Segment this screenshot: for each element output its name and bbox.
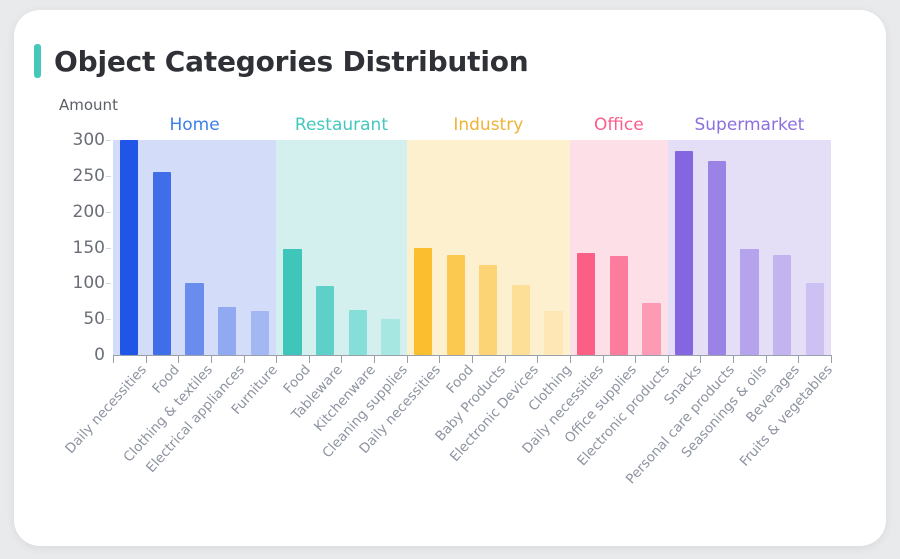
y-tick-mark (106, 212, 111, 213)
y-tick-mark (106, 176, 111, 177)
x-tick-mark (472, 355, 473, 363)
x-tick-mark (505, 355, 506, 363)
x-tick-mark (113, 355, 114, 363)
y-axis-label: Amount (59, 96, 118, 114)
x-tick-mark (537, 355, 538, 363)
bar[interactable] (544, 311, 562, 355)
page-title: Object Categories Distribution (54, 45, 529, 78)
group-label-office: Office (594, 115, 644, 135)
group-label-supermarket: Supermarket (694, 115, 804, 135)
y-tick-label: 100 (59, 273, 105, 293)
x-tick-mark (341, 355, 342, 363)
y-tick-mark (106, 283, 111, 284)
bar[interactable] (610, 256, 628, 355)
y-tick-label: 0 (59, 345, 105, 365)
x-tick-mark (407, 355, 408, 363)
group-label-restaurant: Restaurant (295, 115, 388, 135)
plot-area (113, 140, 831, 355)
group-label-industry: Industry (453, 115, 523, 135)
bar[interactable] (479, 265, 497, 355)
x-tick-mark (766, 355, 767, 363)
x-tick-mark (146, 355, 147, 363)
bar[interactable] (251, 311, 269, 355)
bar[interactable] (414, 248, 432, 356)
title-accent-bar (34, 44, 41, 78)
chart-card: Object Categories Distribution Amount 05… (14, 10, 886, 546)
x-tick-mark (211, 355, 212, 363)
bar[interactable] (740, 249, 758, 355)
x-tick-mark (635, 355, 636, 363)
bar[interactable] (577, 253, 595, 355)
x-tick-mark (733, 355, 734, 363)
x-tick-mark (178, 355, 179, 363)
x-tick-mark (244, 355, 245, 363)
bar[interactable] (349, 310, 367, 355)
bar[interactable] (153, 172, 171, 355)
bar[interactable] (218, 307, 236, 355)
x-tick-mark (668, 355, 669, 363)
x-tick-mark (374, 355, 375, 363)
y-tick-label: 200 (59, 202, 105, 222)
bar[interactable] (381, 319, 399, 355)
y-tick-label: 300 (59, 130, 105, 150)
x-tick-mark (276, 355, 277, 363)
bar[interactable] (447, 255, 465, 355)
y-tick-mark (106, 140, 111, 141)
bar[interactable] (185, 283, 203, 355)
x-tick-mark (309, 355, 310, 363)
bar[interactable] (773, 255, 791, 355)
y-tick-mark (106, 319, 111, 320)
bar[interactable] (708, 161, 726, 355)
x-tick-mark (570, 355, 571, 363)
bar[interactable] (642, 303, 660, 355)
x-tick-mark (831, 355, 832, 363)
bar[interactable] (675, 151, 693, 355)
x-tick-mark (439, 355, 440, 363)
bar[interactable] (806, 283, 824, 355)
y-tick-label: 50 (59, 309, 105, 329)
x-tick-mark (603, 355, 604, 363)
x-axis-line (113, 355, 831, 356)
x-tick-mark (700, 355, 701, 363)
bar[interactable] (120, 140, 138, 355)
bar[interactable] (316, 286, 334, 355)
chart-title-row: Object Categories Distribution (34, 44, 529, 78)
y-tick-mark (106, 248, 111, 249)
bar[interactable] (283, 249, 301, 355)
y-tick-label: 250 (59, 166, 105, 186)
y-tick-label: 150 (59, 238, 105, 258)
group-label-home: Home (169, 115, 219, 135)
bar[interactable] (512, 285, 530, 355)
x-tick-mark (798, 355, 799, 363)
